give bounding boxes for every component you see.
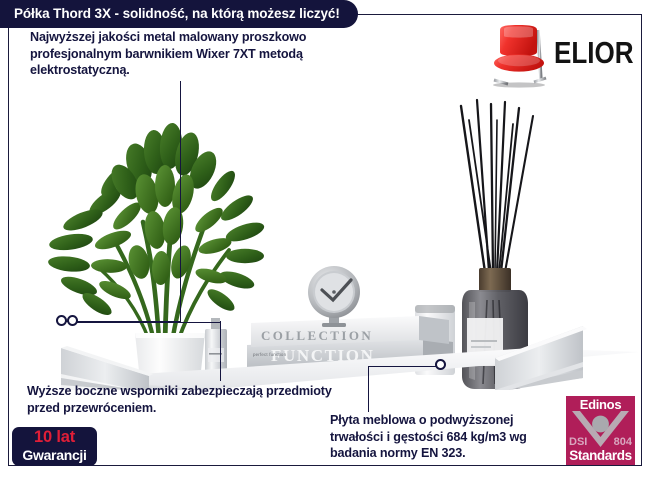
- callout-top-dot-marker: [56, 315, 67, 326]
- reed-diffuser: [461, 100, 533, 389]
- callout-bottom-center-dot-marker: [435, 359, 446, 370]
- red-chair-logo-icon: [488, 24, 550, 88]
- warranty-badge: 10 lat Gwarancji: [12, 427, 97, 466]
- standards-badge: Edinos DSI 804 Standards: [566, 396, 635, 465]
- callout-top-text: Najwyższej jakości metal malowany proszk…: [30, 29, 340, 79]
- brand-name: ELIOR: [554, 36, 634, 70]
- warranty-years: 10 lat: [12, 428, 97, 447]
- callout-bottom-center-leader-hook: [368, 366, 441, 367]
- svg-text:COLLECTION: COLLECTION: [261, 328, 373, 343]
- brand-logo[interactable]: ELIOR: [488, 24, 636, 90]
- callout-bottom-left-leader-line: [220, 321, 221, 381]
- desk-clock: [308, 266, 360, 327]
- standards-label: Standards: [566, 448, 635, 463]
- svg-text:perfect function: perfect function: [253, 352, 287, 357]
- warranty-label: Gwarancji: [12, 446, 97, 464]
- callout-bottom-left-leader-hook: [73, 322, 221, 323]
- infographic-canvas: FUNCTION perfect function COLLECTION: [0, 0, 650, 477]
- potted-zz-plant: [47, 122, 266, 390]
- callout-bottom-center-leader-line: [368, 366, 369, 412]
- callout-bottom-center-text: Płyta meblowa o podwyższonej trwałości i…: [330, 412, 545, 462]
- callout-bottom-left-text: Wyższe boczne wsporniki zabezpieczają pr…: [27, 383, 347, 416]
- page-title: Półka Thord 3X - solidność, na którą moż…: [0, 0, 358, 28]
- callout-bottom-left-dot-marker: [67, 315, 78, 326]
- product-photo-scene: FUNCTION perfect function COLLECTION: [9, 90, 641, 390]
- callout-top-leader-line: [180, 81, 181, 321]
